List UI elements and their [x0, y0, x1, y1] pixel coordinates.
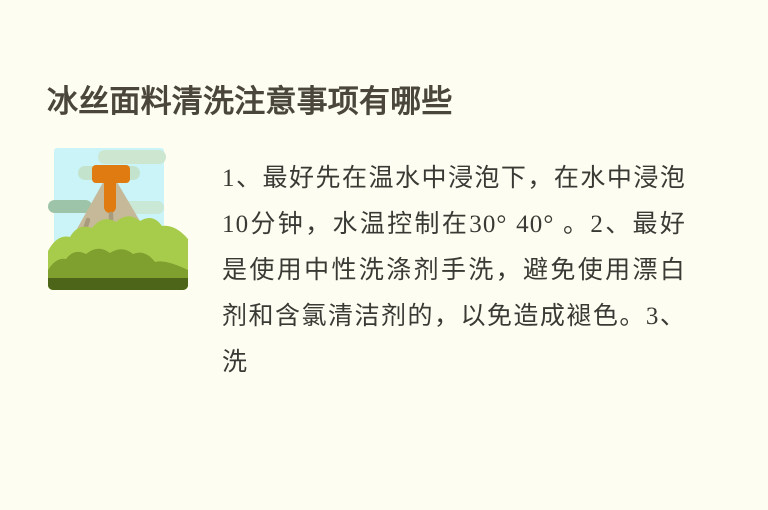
- page-title: 冰丝面料清洗注意事项有哪些: [47, 81, 737, 123]
- ground-strip: [48, 278, 188, 290]
- article-body: 1、最好先在温水中浸泡下，在水中浸泡10分钟，水温控制在30° 40° 。2、最…: [222, 156, 686, 386]
- volcano-illustration-svg: [48, 148, 188, 290]
- crater-rim: [92, 165, 130, 183]
- lava-flow: [104, 181, 116, 213]
- volcano-illustration: [48, 148, 188, 290]
- article-paragraph: 1、最好先在温水中浸泡下，在水中浸泡10分钟，水温控制在30° 40° 。2、最…: [222, 156, 686, 386]
- cloud-bar-top: [98, 150, 166, 164]
- cloud-bar-left: [48, 200, 92, 213]
- article-page: 冰丝面料清洗注意事项有哪些: [0, 0, 768, 510]
